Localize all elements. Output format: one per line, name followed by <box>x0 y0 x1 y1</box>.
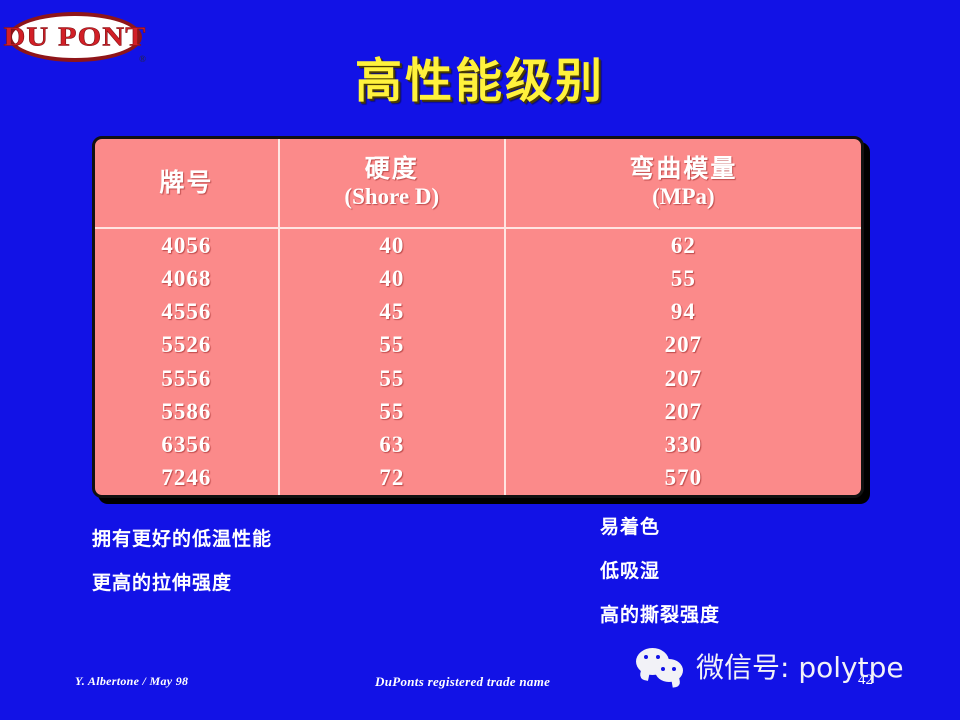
footer-trade-note: DuPonts registered trade name <box>375 674 550 690</box>
cell-grade: 7246 <box>95 462 279 495</box>
grades-table: 牌号 硬度 (Shore D) 弯曲模量 (MPa) 4056 40 <box>95 139 861 495</box>
cell-grade: 5526 <box>95 329 279 362</box>
note-item: 更高的拉伸强度 <box>92 568 272 595</box>
cell-hardness: 72 <box>279 462 505 495</box>
cell-hardness: 55 <box>279 395 505 428</box>
cell-modulus: 570 <box>505 462 861 495</box>
column-header-modulus: 弯曲模量 (MPa) <box>505 139 861 228</box>
table-row: 7246 72 570 <box>95 462 861 495</box>
cell-modulus: 207 <box>505 329 861 362</box>
cell-grade: 4056 <box>95 228 279 262</box>
column-header-hardness-cn: 硬度 <box>280 155 504 184</box>
cell-hardness: 63 <box>279 428 505 461</box>
cell-grade: 4556 <box>95 296 279 329</box>
column-header-modulus-unit: (MPa) <box>506 184 861 210</box>
table-row: 4068 40 55 <box>95 262 861 295</box>
cell-grade: 4068 <box>95 262 279 295</box>
cell-grade: 5556 <box>95 362 279 395</box>
note-item: 低吸湿 <box>600 556 720 583</box>
wechat-icon <box>636 646 688 686</box>
table-row: 4056 40 62 <box>95 228 861 262</box>
column-header-hardness: 硬度 (Shore D) <box>279 139 505 228</box>
cell-modulus: 207 <box>505 362 861 395</box>
slide-canvas: DU PONT ® 高性能级别 牌号 硬度 (Shore D) <box>0 0 960 720</box>
cell-modulus: 207 <box>505 395 861 428</box>
wechat-id-label: 微信号: polytpe <box>696 646 904 686</box>
cell-hardness: 45 <box>279 296 505 329</box>
page-title: 高性能级别 <box>0 42 960 111</box>
wechat-eye <box>644 655 648 659</box>
notes-right-block: 易着色 低吸湿 高的撕裂强度 <box>600 512 720 644</box>
cell-modulus: 55 <box>505 262 861 295</box>
column-header-grade: 牌号 <box>95 139 279 228</box>
notes-left-block: 拥有更好的低温性能 更高的拉伸强度 <box>92 524 272 612</box>
footer-author: Y. Albertone / May 98 <box>75 674 188 689</box>
cell-modulus: 62 <box>505 228 861 262</box>
wechat-watermark: 微信号: polytpe <box>636 646 904 686</box>
table-row: 5586 55 207 <box>95 395 861 428</box>
cell-modulus: 330 <box>505 428 861 461</box>
note-item: 易着色 <box>600 512 720 539</box>
cell-hardness: 40 <box>279 262 505 295</box>
wechat-eye <box>656 655 660 659</box>
column-header-hardness-unit: (Shore D) <box>280 184 504 210</box>
cell-grade: 5586 <box>95 395 279 428</box>
table-row: 5556 55 207 <box>95 362 861 395</box>
wechat-eye <box>661 667 665 671</box>
note-item: 拥有更好的低温性能 <box>92 524 272 551</box>
cell-hardness: 55 <box>279 362 505 395</box>
column-header-grade-cn: 牌号 <box>95 169 278 198</box>
table-header-row: 牌号 硬度 (Shore D) 弯曲模量 (MPa) <box>95 139 861 228</box>
wechat-bubble-small <box>655 659 683 682</box>
table-row: 4556 45 94 <box>95 296 861 329</box>
table-row: 5526 55 207 <box>95 329 861 362</box>
cell-modulus: 94 <box>505 296 861 329</box>
cell-hardness: 55 <box>279 329 505 362</box>
note-item: 高的撕裂强度 <box>600 600 720 627</box>
table-row: 6356 63 330 <box>95 428 861 461</box>
cell-grade: 6356 <box>95 428 279 461</box>
wechat-eye <box>672 667 676 671</box>
column-header-modulus-cn: 弯曲模量 <box>506 155 861 184</box>
cell-hardness: 40 <box>279 228 505 262</box>
grades-table-container: 牌号 硬度 (Shore D) 弯曲模量 (MPa) 4056 40 <box>92 136 864 498</box>
